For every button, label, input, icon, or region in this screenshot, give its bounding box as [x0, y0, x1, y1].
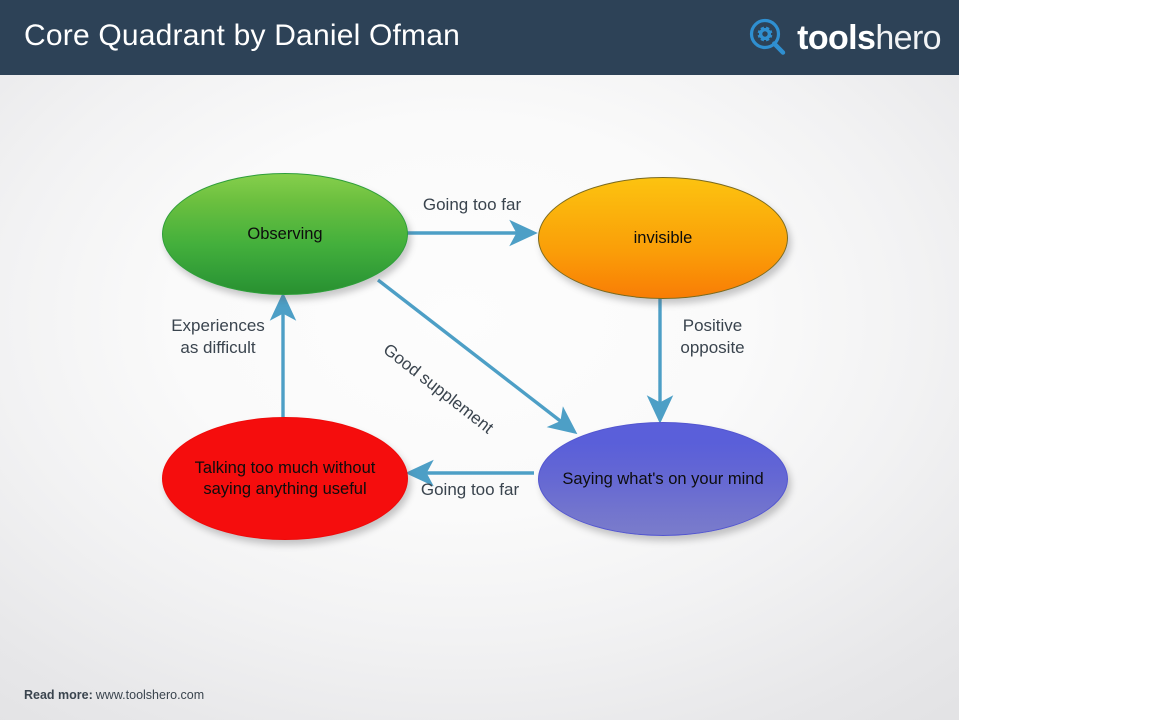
core-quadrant-diagram: Observing invisible Talking too much wit…: [0, 75, 959, 660]
footer-url[interactable]: www.toolshero.com: [96, 688, 204, 702]
node-allergy[interactable]: invisible: [538, 177, 788, 299]
node-challenge-label: Saying what's on your mind: [546, 469, 779, 490]
page-title: Core Quadrant by Daniel Ofman: [24, 19, 460, 53]
edge-label-positive-opposite: Positive opposite: [650, 315, 775, 359]
node-allergy-label: invisible: [618, 228, 709, 249]
edge-label-experiences-as-difficult: Experiences as difficult: [142, 315, 294, 359]
edge-label-going-too-far-bottom: Going too far: [396, 479, 544, 501]
node-pitfall[interactable]: Talking too much without saying anything…: [162, 417, 408, 540]
magnifier-gear-icon: [748, 18, 788, 58]
footer-read-more-label: Read more:: [24, 688, 93, 702]
logo-word-hero: hero: [875, 19, 941, 57]
logo-word-tools: tools: [797, 19, 875, 57]
node-pitfall-label: Talking too much without saying anything…: [163, 458, 407, 500]
footer-read-more: Read more:www.toolshero.com: [24, 688, 204, 702]
logo-wordmark: toolshero: [797, 21, 941, 55]
node-core-quality[interactable]: Observing: [162, 173, 408, 295]
toolshero-logo: toolshero: [748, 14, 941, 62]
node-core-quality-label: Observing: [231, 224, 338, 245]
slide-header: Core Quadrant by Daniel Ofman: [0, 0, 959, 75]
edge-label-going-too-far-top: Going too far: [398, 194, 546, 216]
slide-canvas: Core Quadrant by Daniel Ofman: [0, 0, 959, 720]
node-challenge[interactable]: Saying what's on your mind: [538, 422, 788, 536]
diagram-arrows: [0, 75, 959, 660]
